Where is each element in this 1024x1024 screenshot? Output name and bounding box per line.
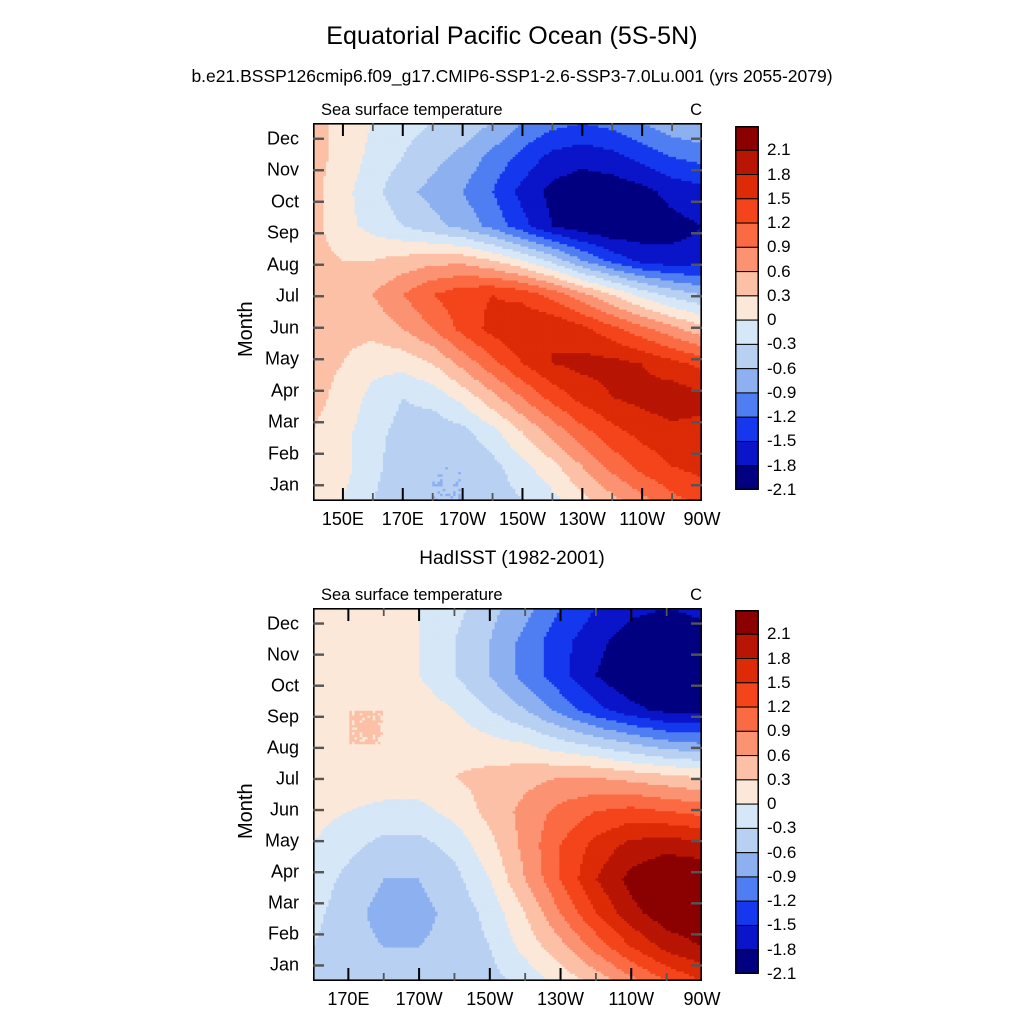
contour-plot-observations — [313, 608, 702, 981]
panel-observations: Sea surface temperature C DecNovOctSepAu… — [313, 608, 702, 981]
colorbar-tick-obs-6: 0.3 — [767, 770, 791, 790]
xtick-label-150w: 150W — [499, 509, 546, 530]
ytick-label-jan: Jan — [270, 475, 299, 496]
colorbar-tick-obs-10: -0.9 — [767, 867, 796, 887]
xtick-label-110w: 110W — [619, 509, 665, 530]
panel-field-label-bottom: Sea surface temperature — [321, 586, 503, 605]
y-axis-title: Month — [235, 784, 258, 840]
panel-units-label-top: C — [690, 101, 702, 120]
colorbar-tick-obs-1: 1.8 — [767, 649, 791, 669]
colorbar-tick-obs-9: -0.6 — [767, 843, 796, 863]
ytick-label-sep: Sep — [267, 223, 299, 244]
xtick-label-130w: 130W — [559, 509, 606, 530]
ytick-label-jul: Jul — [276, 286, 299, 307]
figure-canvas: Equatorial Pacific Ocean (5S-5N) b.e21.B… — [0, 0, 1024, 1024]
ytick-label-aug: Aug — [267, 737, 299, 758]
ytick-label-oct: Oct — [271, 675, 299, 696]
colorbar-tick-obs-3: 1.2 — [767, 697, 791, 717]
colorbar-tick-obs-4: 0.9 — [767, 721, 791, 741]
colorbar-tick-obs-5: 0.6 — [767, 746, 791, 766]
xtick-label-90w: 90W — [683, 509, 720, 530]
xtick-label-170e: 170E — [382, 509, 424, 530]
panel-model: Sea surface temperature C DecNovOctSepAu… — [313, 123, 702, 501]
colorbar-tick-obs-7: 0 — [767, 794, 776, 814]
ytick-label-feb: Feb — [268, 443, 299, 464]
ytick-label-nov: Nov — [267, 160, 299, 181]
colorbar-tick-model-4: 0.9 — [767, 237, 791, 257]
ytick-label-feb: Feb — [268, 924, 299, 945]
colorbar-tick-obs-14: -2.1 — [767, 964, 796, 984]
contour-plot-model — [313, 123, 702, 501]
ytick-label-may: May — [265, 349, 299, 370]
panel-field-label-top: Sea surface temperature — [321, 101, 503, 120]
xtick-label-150e: 150E — [322, 509, 364, 530]
colorbar-tick-obs-0: 2.1 — [767, 624, 791, 644]
ytick-label-sep: Sep — [267, 706, 299, 727]
colorbar-tick-model-11: -1.2 — [767, 407, 796, 427]
panel-heading-hadisst: HadISST (1982-2001) — [0, 548, 1024, 570]
xtick-label-170w: 170W — [439, 509, 486, 530]
ytick-label-mar: Mar — [268, 893, 299, 914]
colorbar-tick-model-14: -2.1 — [767, 480, 796, 500]
ytick-label-jul: Jul — [276, 768, 299, 789]
panel-units-label-bottom: C — [690, 586, 702, 605]
ytick-label-jun: Jun — [270, 800, 299, 821]
colorbar-tick-model-9: -0.6 — [767, 359, 796, 379]
colorbar-tick-model-6: 0.3 — [767, 286, 791, 306]
ytick-label-dec: Dec — [267, 613, 299, 634]
colorbar-tick-obs-2: 1.5 — [767, 673, 791, 693]
ytick-label-oct: Oct — [271, 191, 299, 212]
colorbar-tick-obs-11: -1.2 — [767, 891, 796, 911]
colorbar-tick-model-10: -0.9 — [767, 383, 796, 403]
colorbar-tick-obs-13: -1.8 — [767, 940, 796, 960]
colorbar-model[interactable]: 2.11.81.51.20.90.60.30-0.3-0.6-0.9-1.2-1… — [735, 126, 855, 490]
ytick-label-apr: Apr — [271, 380, 299, 401]
xtick-label-150w: 150W — [466, 989, 513, 1010]
colorbar-tick-model-3: 1.2 — [767, 213, 791, 233]
xtick-label-170w: 170W — [396, 989, 443, 1010]
colorbar-tick-obs-12: -1.5 — [767, 915, 796, 935]
ytick-label-mar: Mar — [268, 412, 299, 433]
colorbar-tick-model-12: -1.5 — [767, 431, 796, 451]
xtick-label-130w: 130W — [537, 989, 584, 1010]
colorbar-tick-model-0: 2.1 — [767, 140, 791, 160]
colorbar-tick-obs-8: -0.3 — [767, 818, 796, 838]
xtick-label-110w: 110W — [608, 989, 654, 1010]
colorbar-tick-model-13: -1.8 — [767, 456, 796, 476]
ytick-label-dec: Dec — [267, 128, 299, 149]
ytick-label-nov: Nov — [267, 644, 299, 665]
xtick-label-90w: 90W — [683, 989, 720, 1010]
xtick-label-170e: 170E — [327, 989, 369, 1010]
ytick-label-jun: Jun — [270, 317, 299, 338]
colorbar-tick-model-1: 1.8 — [767, 165, 791, 185]
colorbar-tick-model-7: 0 — [767, 310, 776, 330]
colorbar-tick-model-2: 1.5 — [767, 189, 791, 209]
figure-subtitle: b.e21.BSSP126cmip6.f09_g17.CMIP6-SSP1-2.… — [0, 66, 1024, 87]
colorbar-tick-model-8: -0.3 — [767, 334, 796, 354]
y-axis-title: Month — [235, 302, 258, 358]
colorbar-observations[interactable]: 2.11.81.51.20.90.60.30-0.3-0.6-0.9-1.2-1… — [735, 610, 855, 974]
ytick-label-jan: Jan — [270, 955, 299, 976]
figure-title: Equatorial Pacific Ocean (5S-5N) — [0, 22, 1024, 51]
ytick-label-apr: Apr — [271, 862, 299, 883]
colorbar-tick-model-5: 0.6 — [767, 262, 791, 282]
ytick-label-may: May — [265, 831, 299, 852]
ytick-label-aug: Aug — [267, 254, 299, 275]
